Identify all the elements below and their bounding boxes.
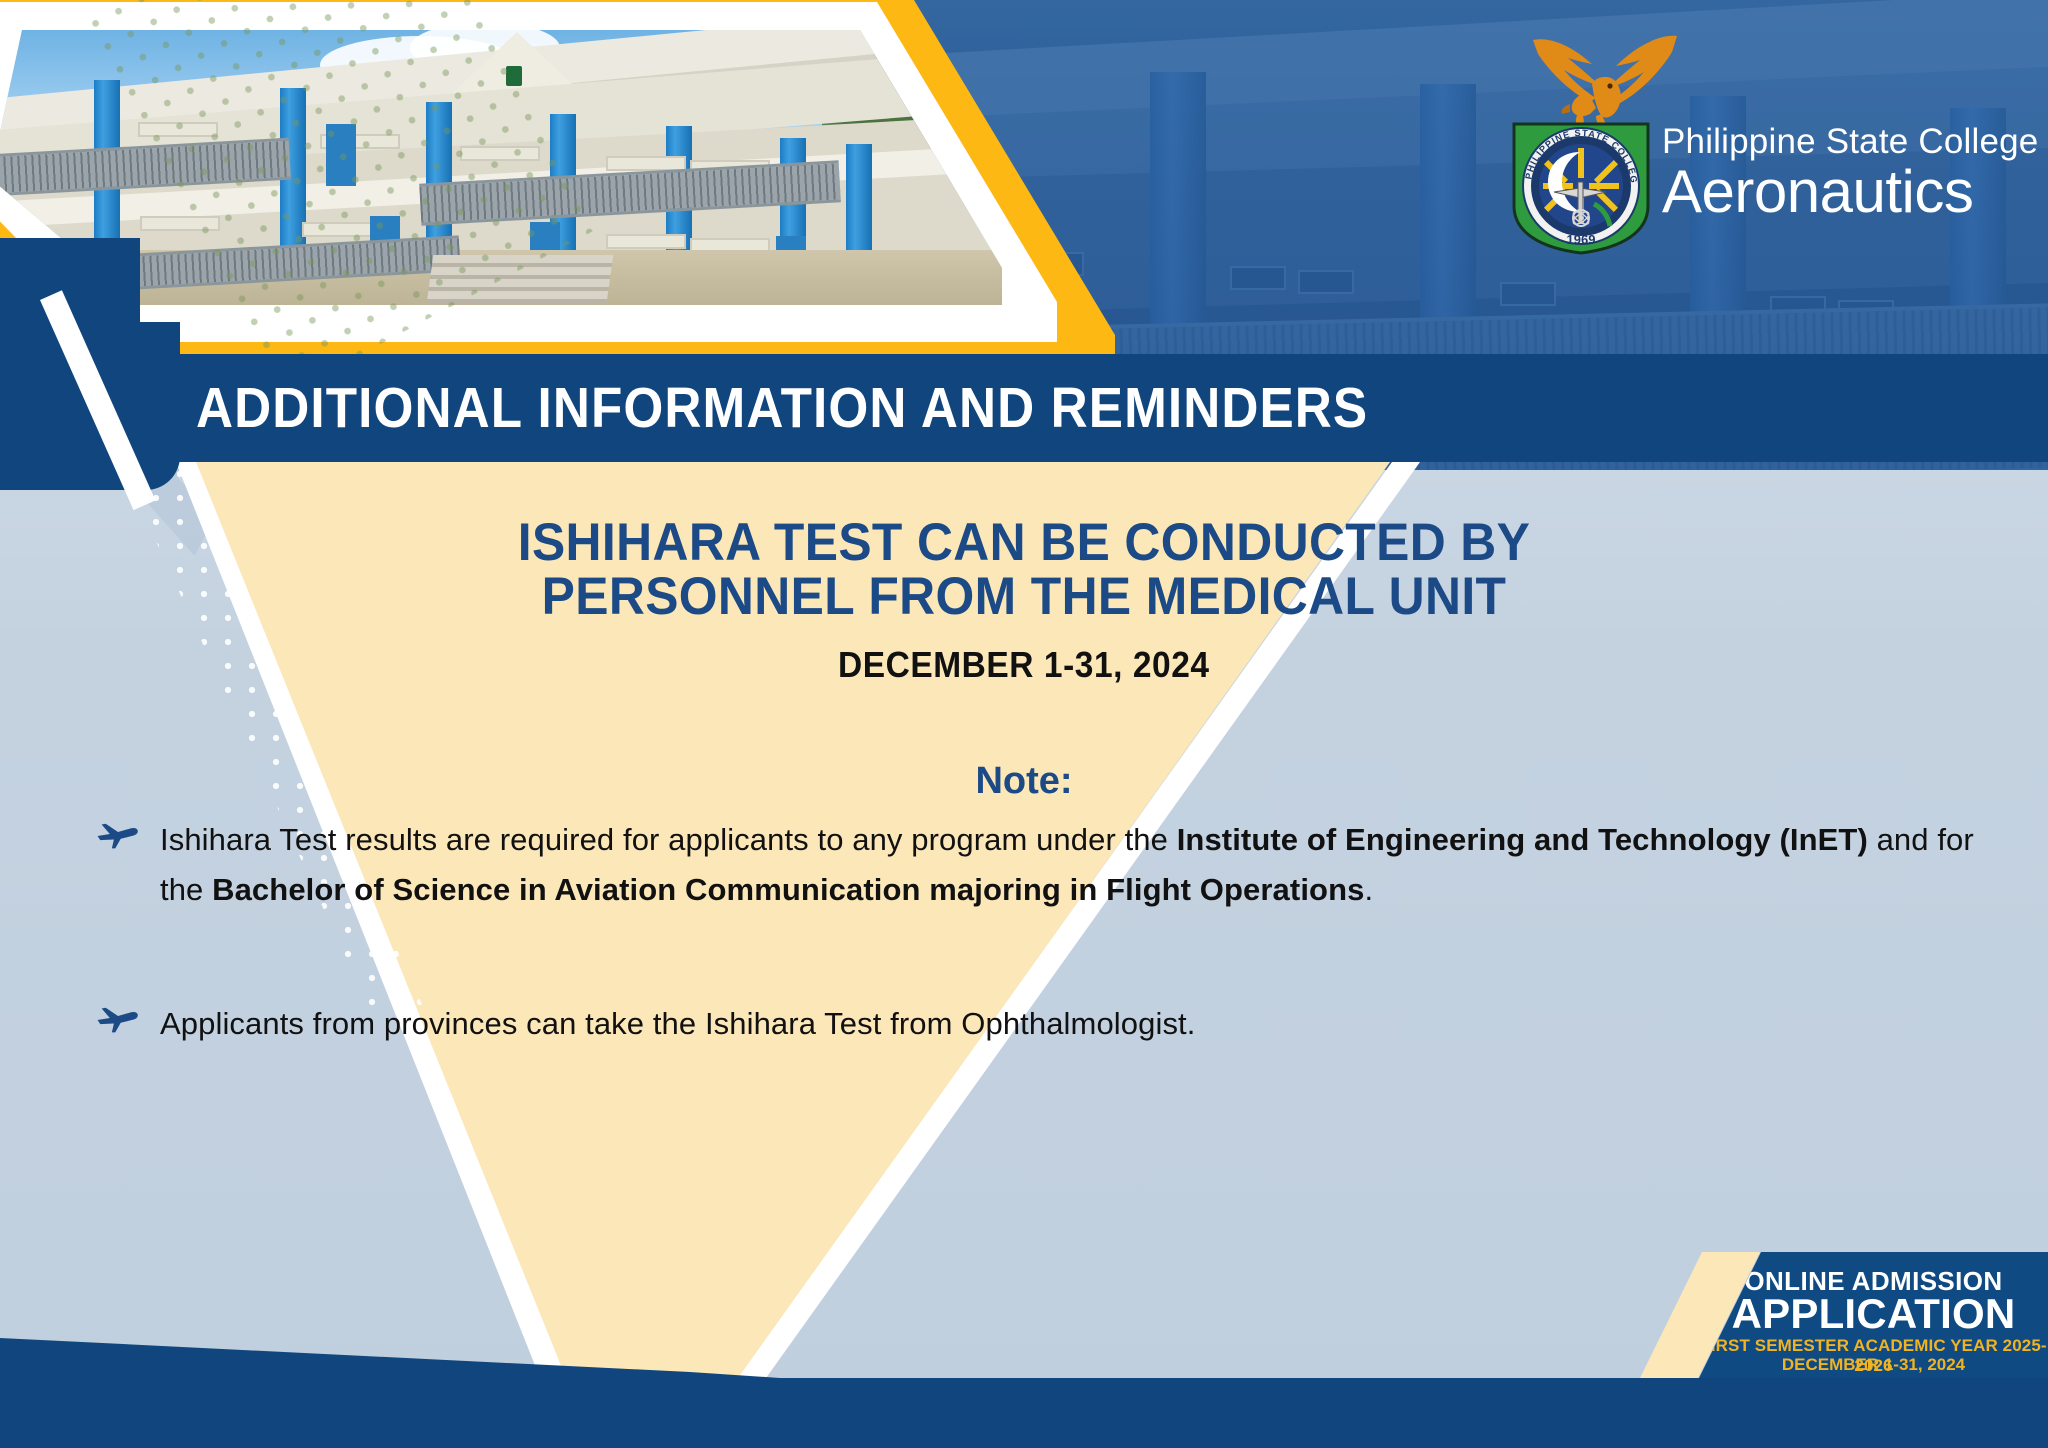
college-seal-icon: PHILIPPINE STATE COLLEGE OF AERONAUTICS …: [1510, 120, 1652, 256]
page-title-line-1: ISHIHARA TEST CAN BE CONDUCTED BY: [61, 516, 1986, 570]
page-date-text: DECEMBER 1-31, 2024: [838, 644, 1210, 686]
note-label: Note:: [0, 760, 2048, 803]
page-title: ISHIHARA TEST CAN BE CONDUCTED BY PERSON…: [0, 516, 2048, 624]
svg-text:1969: 1969: [1567, 232, 1596, 247]
note-bullet-list: Ishihara Test results are required for a…: [96, 815, 1976, 1108]
bullet-1-seg-4: Bachelor of Science in Aviation Communic…: [212, 872, 1364, 907]
bullet-1-seg-5: .: [1364, 872, 1373, 907]
list-item: Applicants from provinces can take the I…: [96, 999, 1976, 1049]
poster-canvas: ADMISSION ADMISSION: [0, 0, 2048, 1448]
bullet-2-seg-1: Applicants from provinces can take the I…: [160, 1006, 1196, 1041]
list-item-text: Applicants from provinces can take the I…: [160, 999, 1976, 1049]
institution-name-line-2: Aeronautics: [1662, 161, 2048, 222]
page-title-line-2: PERSONNEL FROM THE MEDICAL UNIT: [61, 570, 1986, 624]
institution-name: Philippine State College of Aeronautics: [1662, 124, 2048, 222]
institution-name-line-1: Philippine State College of: [1662, 124, 2048, 159]
airplane-icon: [96, 819, 140, 849]
list-item-text: Ishihara Test results are required for a…: [160, 815, 1976, 915]
badge-line-4: DECEMBER 1-31, 2024: [1699, 1355, 2048, 1375]
bullet-1-seg-2: Institute of Engineering and Technology …: [1177, 822, 1868, 857]
bottom-navy-strip: [0, 1378, 2048, 1448]
page-date: DECEMBER 1-31, 2024: [0, 644, 2048, 686]
institution-logo-lockup: PHILIPPINE STATE COLLEGE OF AERONAUTICS …: [1510, 24, 2030, 239]
airplane-icon: [96, 1003, 140, 1033]
list-item: Ishihara Test results are required for a…: [96, 815, 1976, 915]
bullet-1-seg-1: Ishihara Test results are required for a…: [160, 822, 1177, 857]
badge-line-2: APPLICATION: [1699, 1290, 2048, 1338]
